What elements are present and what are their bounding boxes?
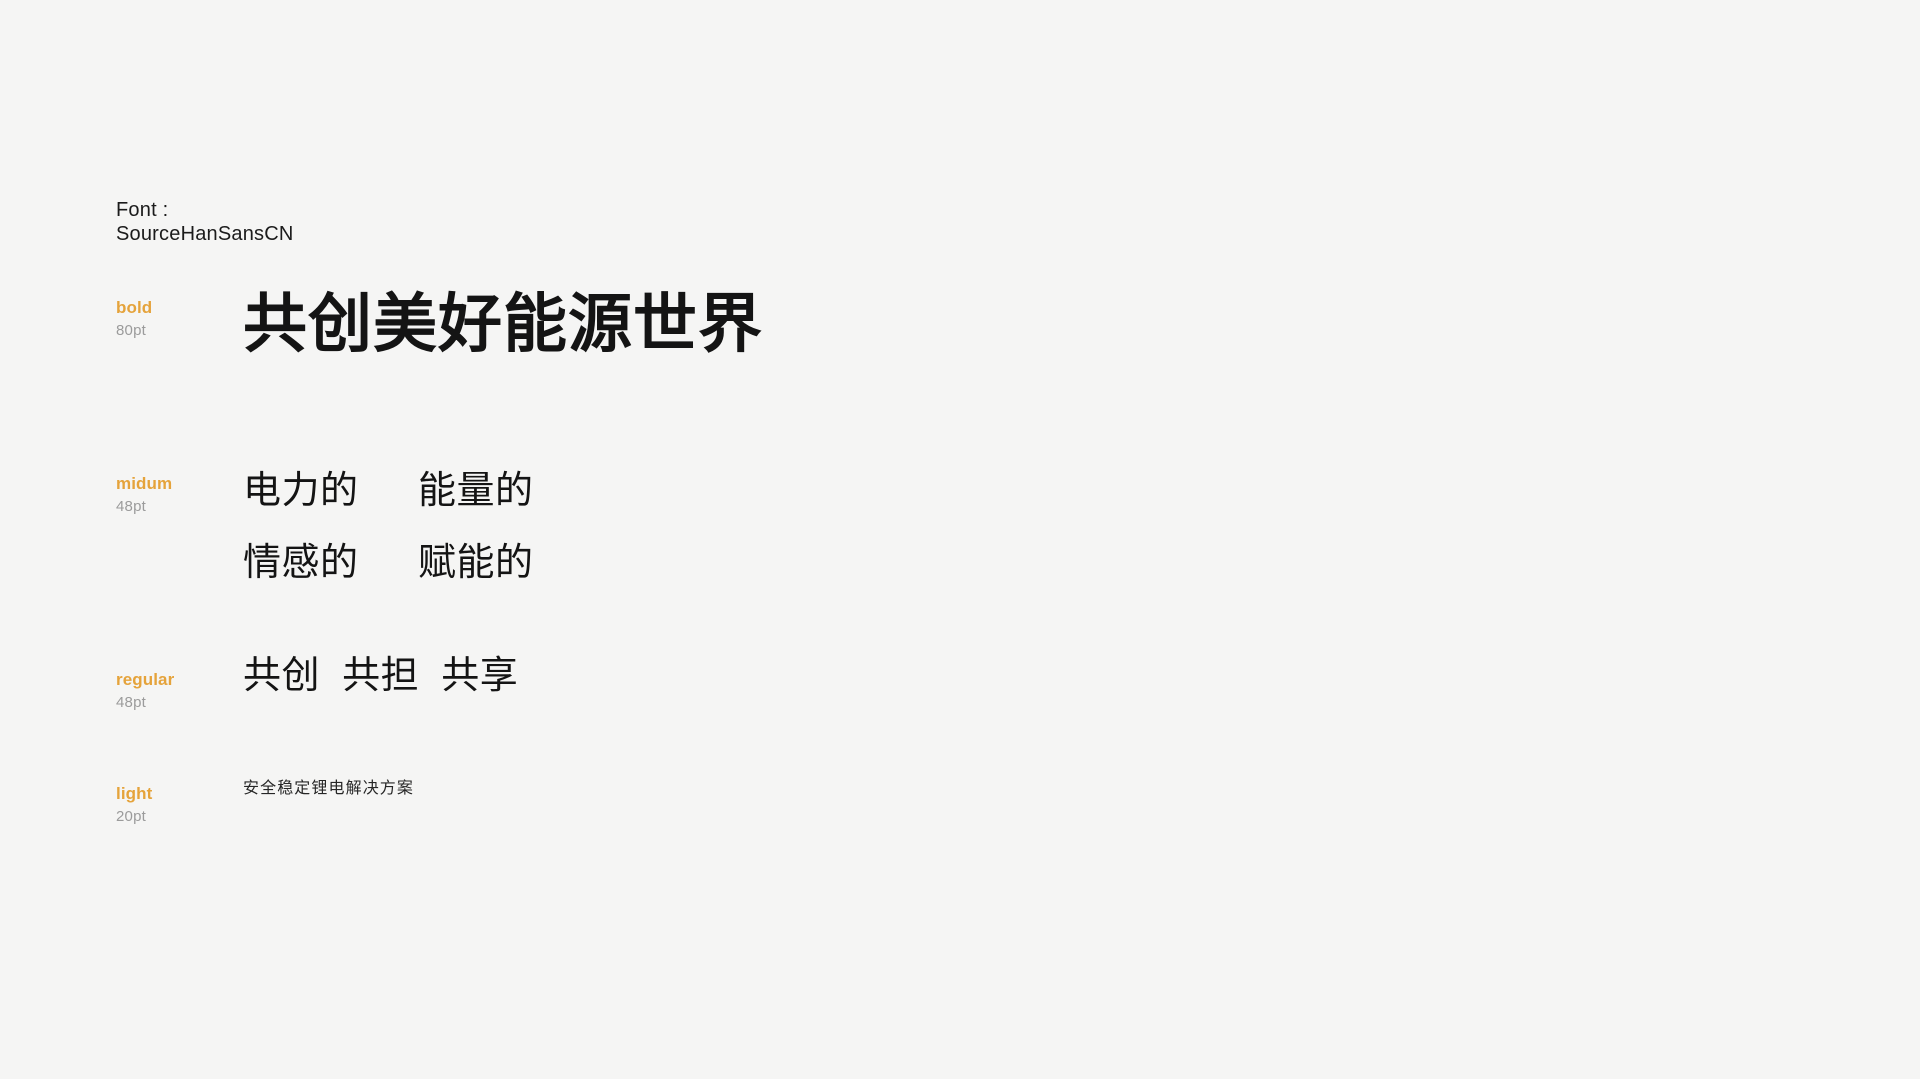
sample-word: 电力的 (243, 470, 418, 513)
weight-size: 20pt (116, 809, 296, 826)
sample-word: 情感的 (243, 542, 418, 585)
sample-word: 赋能的 (418, 542, 534, 585)
typography-specimen-sheet: Font : SourceHanSansCN bold 80pt 共创美好能源世… (0, 0, 1920, 1079)
font-column-latin: Font : Rany Bold 80pt Creating the world… (960, 0, 1920, 1079)
font-name-heading-chinese: Font : SourceHanSansCN (116, 198, 294, 247)
sample-text-bold-chinese: 共创美好能源世界 (243, 289, 763, 359)
sample-text-light-chinese: 安全稳定锂电解决方案 (243, 779, 414, 800)
font-column-chinese: Font : SourceHanSansCN bold 80pt 共创美好能源世… (0, 0, 960, 1079)
sample-word: 能量的 (418, 470, 534, 513)
sample-word-grid-medium-chinese: 电力的 能量的 情感的 赋能的 (243, 470, 534, 584)
sample-text-regular-chinese: 共创 共担 共享 (243, 655, 518, 698)
